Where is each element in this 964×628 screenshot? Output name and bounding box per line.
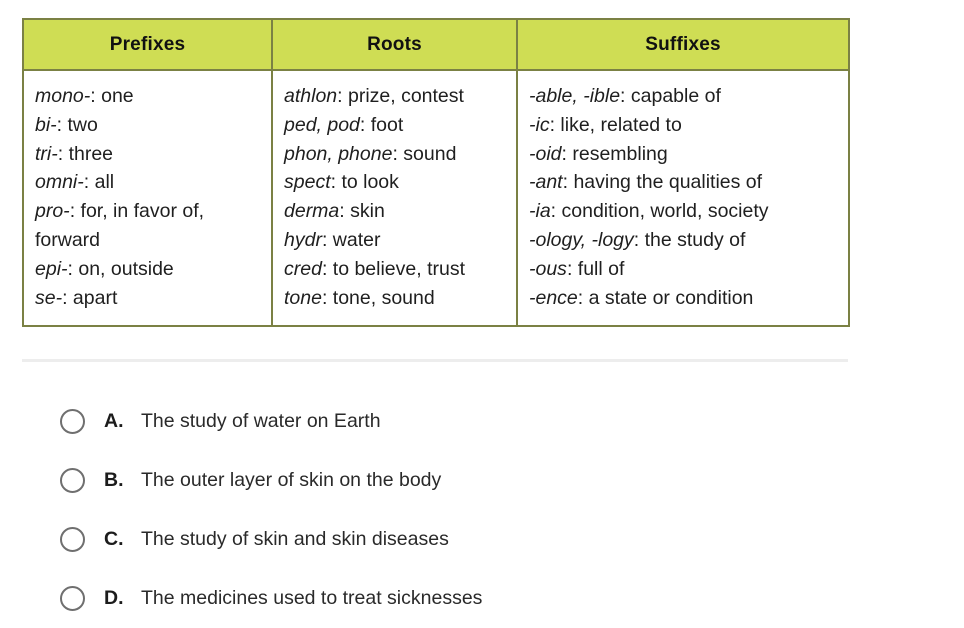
radio-button-icon[interactable] [60,586,85,611]
definition: : apart [62,287,117,309]
radio-button-icon[interactable] [60,409,85,434]
list-item: mono-: one [35,82,262,111]
term: bi- [35,114,57,136]
table-body-row: mono-: one bi-: two tri-: three omni-: a… [23,70,849,326]
option-letter: B. [104,469,130,492]
option-text: The study of water on Earth [141,410,381,433]
cell-roots: athlon: prize, contest ped, pod: foot ph… [272,70,517,326]
definition: : tone, sound [322,287,435,309]
definition: : resembling [562,143,668,165]
term: pro- [35,200,70,222]
list-item: -ia: condition, world, society [529,197,839,226]
column-header-prefixes: Prefixes [23,19,272,70]
list-item: -ic: like, related to [529,111,839,140]
list-item: tone: tone, sound [284,284,507,313]
term: -ic [529,114,550,136]
list-item: -ous: full of [529,255,839,284]
list-item: -ence: a state or condition [529,284,839,313]
term: cred [284,258,322,280]
list-item: bi-: two [35,111,262,140]
term: omni- [35,171,84,193]
definition: : three [58,143,113,165]
list-item: -able, -ible: capable of [529,82,839,111]
option-text: The outer layer of skin on the body [141,469,441,492]
definition: : capable of [620,85,721,107]
term: -ant [529,171,563,193]
definition: : on, outside [68,258,174,280]
term: ped, pod [284,114,360,136]
affix-reference-table: Prefixes Roots Suffixes mono-: one bi-: … [22,18,850,327]
definition: : to look [331,171,399,193]
term: -ous [529,258,567,280]
definition: : to believe, trust [322,258,465,280]
definition: : water [322,229,381,251]
cell-prefixes: mono-: one bi-: two tri-: three omni-: a… [23,70,272,326]
list-item: hydr: water [284,226,507,255]
radio-button-icon[interactable] [60,468,85,493]
list-item: spect: to look [284,168,507,197]
column-header-roots: Roots [272,19,517,70]
term: mono- [35,85,90,107]
term: tone [284,287,322,309]
section-divider [22,359,848,362]
list-item: -ology, -logy: the study of [529,226,839,255]
radio-button-icon[interactable] [60,527,85,552]
definition: : two [57,114,98,136]
answer-option-c[interactable]: C. The study of skin and skin diseases [0,510,964,569]
list-item: derma: skin [284,197,507,226]
answer-options-list: A. The study of water on Earth B. The ou… [0,392,964,628]
answer-option-d[interactable]: D. The medicines used to treat sicknesse… [0,569,964,628]
option-text: The study of skin and skin diseases [141,528,449,551]
list-item: athlon: prize, contest [284,82,507,111]
list-item: tri-: three [35,140,262,169]
term: phon, phone [284,143,392,165]
term: -oid [529,143,562,165]
definition: : prize, contest [337,85,464,107]
option-letter: C. [104,528,130,551]
term: spect [284,171,331,193]
term: tri- [35,143,58,165]
cell-suffixes: -able, -ible: capable of -ic: like, rela… [517,70,849,326]
answer-option-b[interactable]: B. The outer layer of skin on the body [0,451,964,510]
term: -able, -ible [529,85,620,107]
list-item: phon, phone: sound [284,140,507,169]
definition: : condition, world, society [551,200,769,222]
list-item: cred: to believe, trust [284,255,507,284]
term: hydr [284,229,322,251]
term: epi- [35,258,68,280]
option-text: The medicines used to treat sicknesses [141,587,482,610]
column-header-suffixes: Suffixes [517,19,849,70]
term: derma [284,200,339,222]
definition: : full of [567,258,624,280]
term: athlon [284,85,337,107]
definition: : sound [392,143,456,165]
definition: : like, related to [550,114,682,136]
definition: : a state or condition [578,287,754,309]
definition: : all [84,171,114,193]
definition: : foot [360,114,403,136]
list-item: omni-: all [35,168,262,197]
table-header-row: Prefixes Roots Suffixes [23,19,849,70]
term: -ia [529,200,551,222]
list-item: pro-: for, in favor of, forward [35,197,262,255]
list-item: -oid: resembling [529,140,839,169]
definition: : one [90,85,133,107]
list-item: se-: apart [35,284,262,313]
list-item: -ant: having the qualities of [529,168,839,197]
option-letter: D. [104,587,130,610]
definition: : skin [339,200,385,222]
option-letter: A. [104,410,130,433]
term: -ence [529,287,578,309]
definition: : having the qualities of [563,171,762,193]
definition: : the study of [634,229,746,251]
list-item: ped, pod: foot [284,111,507,140]
answer-option-a[interactable]: A. The study of water on Earth [0,392,964,451]
term: -ology, -logy [529,229,634,251]
list-item: epi-: on, outside [35,255,262,284]
term: se- [35,287,62,309]
